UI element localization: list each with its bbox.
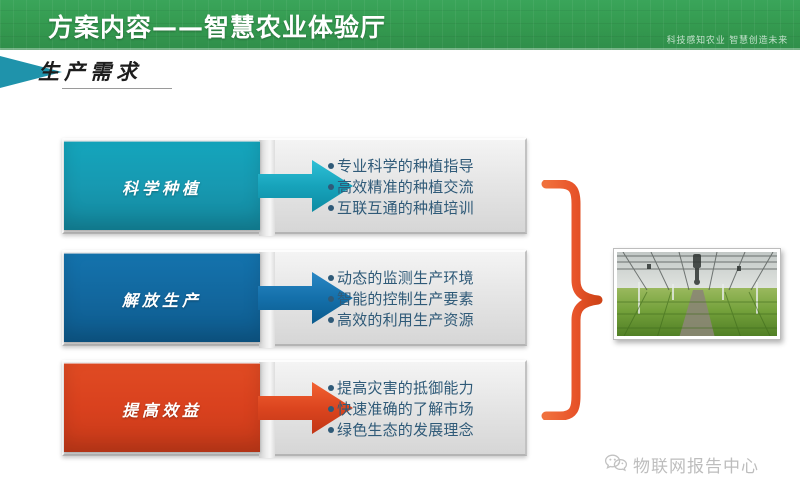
list-item: 动态的监测生产环境 xyxy=(328,268,524,289)
content-row-scientific-planting: 科学种植 专业科学的种植指导 高效精准的种植交 xyxy=(62,138,527,234)
row-label: 解放生产 xyxy=(64,254,260,343)
bullet-dot-icon xyxy=(328,385,334,391)
row-color-block[interactable]: 提高效益 xyxy=(64,363,260,452)
wechat-icon xyxy=(604,453,628,477)
list-item: 高效精准的种植交流 xyxy=(328,177,524,198)
curly-brace-connector-icon xyxy=(540,180,612,420)
bullet-text: 绿色生态的发展理念 xyxy=(337,420,474,441)
watermark-text: 物联网报告中心 xyxy=(633,452,759,477)
bullet-text: 动态的监测生产环境 xyxy=(337,268,474,289)
section-label: 生产需求 xyxy=(38,56,142,86)
greenhouse-photo-image xyxy=(617,252,777,336)
content-row-liberate-production: 解放生产 动态的监测生产环境 智能的控制生产要 xyxy=(62,250,527,346)
bullet-dot-icon xyxy=(328,427,334,433)
bullet-text: 提高灾害的抵御能力 xyxy=(337,378,474,399)
bullet-text: 互联互通的种植培训 xyxy=(337,198,474,219)
row-bullet-list: 动态的监测生产环境 智能的控制生产要素 高效的利用生产资源 xyxy=(328,264,524,334)
bullet-text: 高效精准的种植交流 xyxy=(337,177,474,198)
header-tagline: 科技感知农业 智慧创造未来 xyxy=(667,33,788,46)
greenhouse-photo xyxy=(613,248,781,340)
bullet-dot-icon xyxy=(328,317,334,323)
list-item: 互联互通的种植培训 xyxy=(328,198,524,219)
content-row-improve-benefit: 提高效益 提高灾害的抵御能力 快速准确的了解市 xyxy=(62,360,527,456)
list-item: 快速准确的了解市场 xyxy=(328,399,524,420)
bullet-text: 专业科学的种植指导 xyxy=(337,156,474,177)
row-color-block[interactable]: 解放生产 xyxy=(64,253,260,342)
list-item: 专业科学的种植指导 xyxy=(328,156,524,177)
list-item: 绿色生态的发展理念 xyxy=(328,420,524,441)
bullet-dot-icon xyxy=(328,275,334,281)
slide-canvas: 方案内容——智慧农业体验厅 科技感知农业 智慧创造未来 生产需求 科学种植 xyxy=(0,0,800,500)
row-color-block[interactable]: 科学种植 xyxy=(64,141,260,230)
bullet-dot-icon xyxy=(328,184,334,190)
section-underline xyxy=(62,88,172,89)
list-item: 高效的利用生产资源 xyxy=(328,310,524,331)
bullet-dot-icon xyxy=(328,205,334,211)
bullet-dot-icon xyxy=(328,406,334,412)
row-label: 提高效益 xyxy=(64,364,260,453)
row-bullet-list: 提高灾害的抵御能力 快速准确的了解市场 绿色生态的发展理念 xyxy=(328,374,524,444)
watermark: 物联网报告中心 xyxy=(604,452,759,477)
bullet-dot-icon xyxy=(328,163,334,169)
list-item: 智能的控制生产要素 xyxy=(328,289,524,310)
bullet-text: 高效的利用生产资源 xyxy=(337,310,474,331)
row-bullet-list: 专业科学的种植指导 高效精准的种植交流 互联互通的种植培训 xyxy=(328,152,524,222)
bullet-dot-icon xyxy=(328,296,334,302)
row-label: 科学种植 xyxy=(64,142,260,231)
page-title: 方案内容——智慧农业体验厅 xyxy=(48,8,386,44)
list-item: 提高灾害的抵御能力 xyxy=(328,378,524,399)
bullet-text: 快速准确的了解市场 xyxy=(337,399,474,420)
bullet-text: 智能的控制生产要素 xyxy=(337,289,474,310)
